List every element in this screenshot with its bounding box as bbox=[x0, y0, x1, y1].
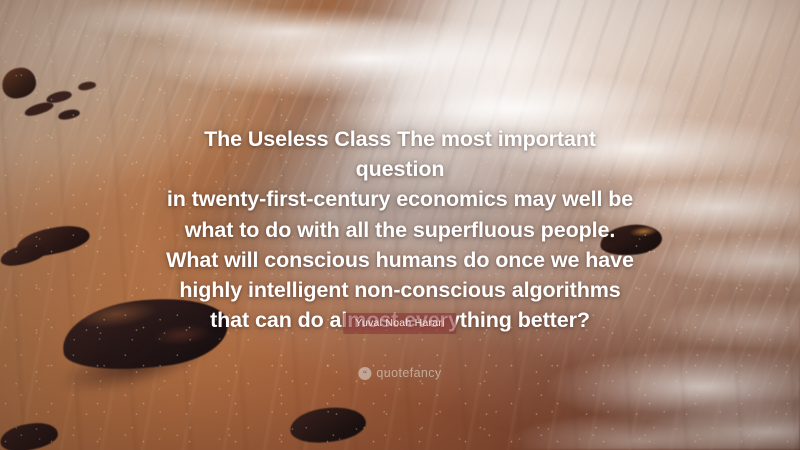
quote-text: The Useless Class The most important que… bbox=[160, 124, 640, 335]
watermark-brand: quotefancy bbox=[376, 366, 441, 380]
author-attribution-badge: Yuval Noah Harari bbox=[343, 313, 456, 334]
quote-image: The Useless Class The most important que… bbox=[0, 0, 800, 450]
author-name: Yuval Noah Harari bbox=[355, 317, 444, 329]
quote-overlay: The Useless Class The most important que… bbox=[0, 0, 800, 450]
watermark: “ quotefancy bbox=[358, 366, 441, 380]
quote-mark-icon: “ bbox=[358, 367, 371, 380]
